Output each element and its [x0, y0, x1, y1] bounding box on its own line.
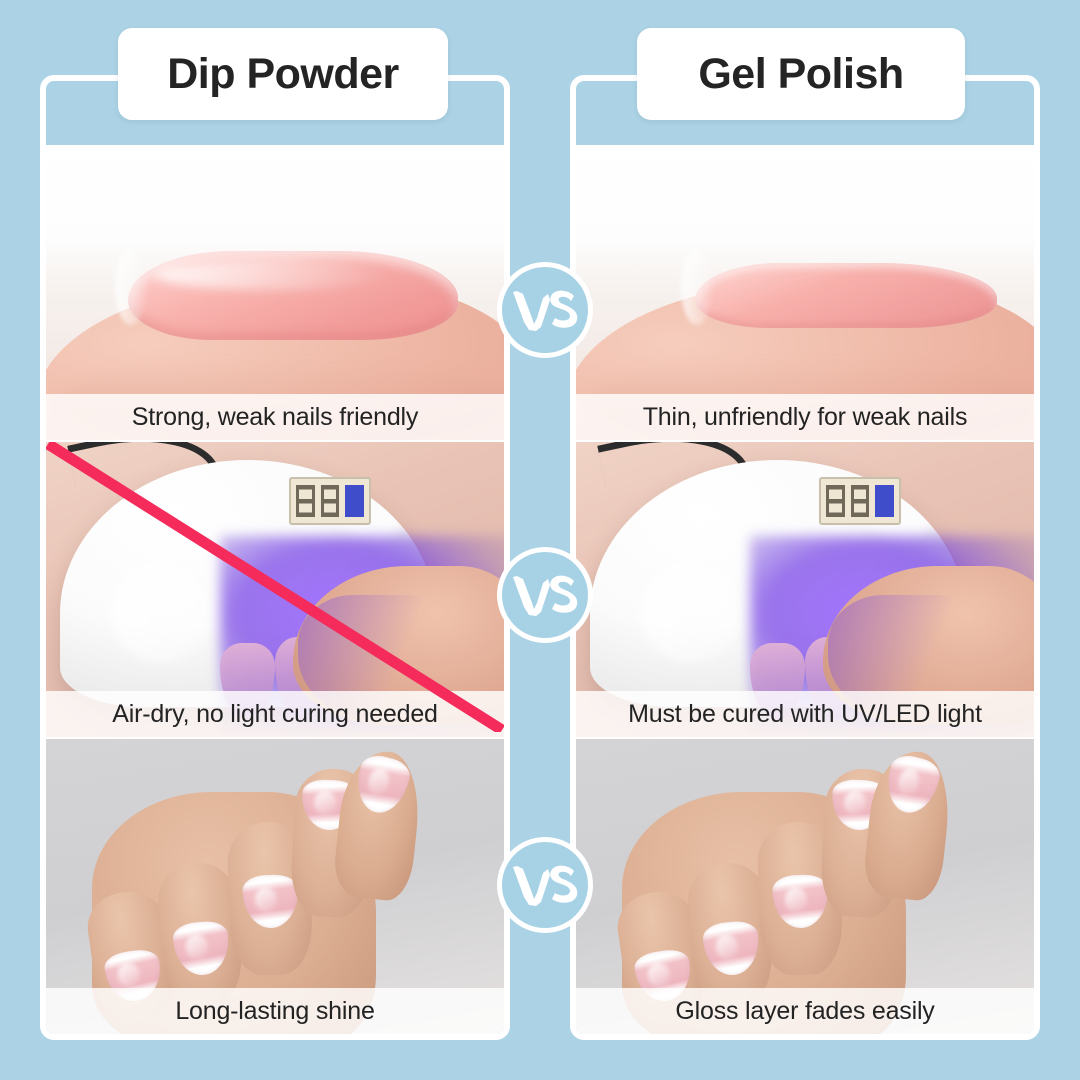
- caption-text: Thin, unfriendly for weak nails: [643, 403, 968, 432]
- caption-gel-row2: Must be cured with UV/LED light: [576, 691, 1034, 737]
- comparison-cell-gel-row2: Must be cured with UV/LED light: [576, 440, 1034, 737]
- column-title-text: Gel Polish: [698, 50, 903, 99]
- caption-gel-row1: Thin, unfriendly for weak nails: [576, 394, 1034, 440]
- vs-icon: [510, 573, 580, 617]
- caption-text: Strong, weak nails friendly: [132, 403, 418, 432]
- comparison-cell-dip-row2: Air-dry, no light curing needed: [46, 440, 504, 737]
- column-title-dip-powder: Dip Powder: [118, 28, 448, 120]
- column-title-text: Dip Powder: [167, 50, 399, 99]
- column-title-gel-polish: Gel Polish: [637, 28, 965, 120]
- comparison-cell-gel-row3: Gloss layer fades easily: [576, 737, 1034, 1034]
- comparison-cell-gel-row1: Thin, unfriendly for weak nails: [576, 145, 1034, 440]
- caption-gel-row3: Gloss layer fades easily: [576, 988, 1034, 1034]
- lamp-digital-display: [819, 477, 901, 524]
- comparison-cell-dip-row3: Long-lasting shine: [46, 737, 504, 1034]
- comparison-column-gel-polish: Thin, unfriendly for weak nails: [570, 75, 1040, 1040]
- vs-badge-row2: [497, 547, 593, 643]
- comparison-cell-dip-row1: Strong, weak nails friendly: [46, 145, 504, 440]
- vs-badge-row1: [497, 262, 593, 358]
- comparison-column-dip-powder: Strong, weak nails friendly: [40, 75, 510, 1040]
- lamp-digital-display: [289, 477, 371, 524]
- vs-icon: [510, 863, 580, 907]
- vs-icon: [510, 288, 580, 332]
- vs-badge-row3: [497, 837, 593, 933]
- caption-text: Long-lasting shine: [175, 997, 374, 1026]
- caption-dip-row1: Strong, weak nails friendly: [46, 394, 504, 440]
- caption-dip-row3: Long-lasting shine: [46, 988, 504, 1034]
- caption-dip-row2: Air-dry, no light curing needed: [46, 691, 504, 737]
- caption-text: Must be cured with UV/LED light: [628, 700, 982, 729]
- caption-text: Gloss layer fades easily: [675, 997, 934, 1026]
- comparison-infographic: Strong, weak nails friendly: [0, 0, 1080, 1080]
- caption-text: Air-dry, no light curing needed: [112, 700, 437, 729]
